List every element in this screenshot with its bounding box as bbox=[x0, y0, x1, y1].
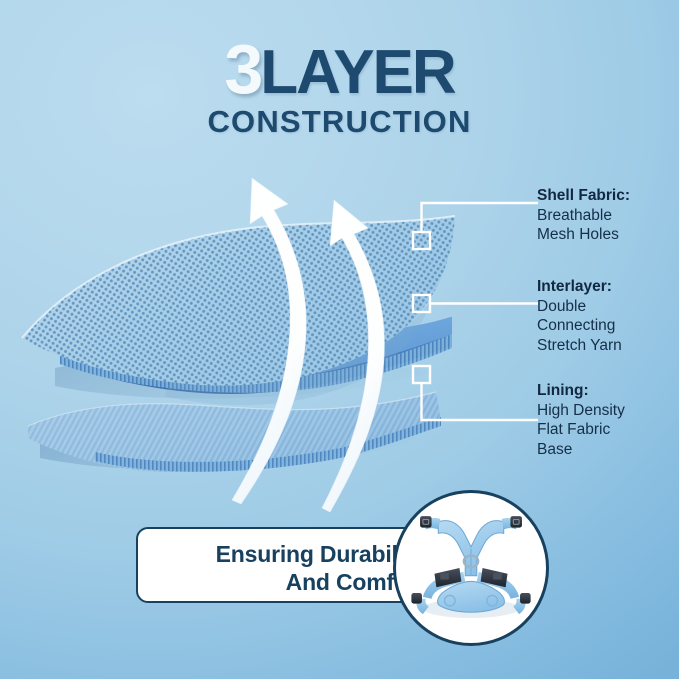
shell-fabric-line2: Mesh Holes bbox=[537, 225, 630, 245]
shell-fabric-line1: Breathable bbox=[537, 206, 630, 226]
lining-line1: High Density bbox=[537, 401, 625, 421]
title-word: LAYER bbox=[260, 38, 454, 107]
title-main-row: 3LAYER bbox=[0, 34, 679, 104]
interlayer-line3: Stretch Yarn bbox=[537, 336, 622, 356]
lining-line3: Base bbox=[537, 440, 625, 460]
shell-fabric-text: Shell Fabric: Breathable Mesh Holes bbox=[537, 186, 630, 245]
interlayer-line2: Connecting bbox=[537, 316, 622, 336]
interlayer-text: Interlayer: Double Connecting Stretch Ya… bbox=[537, 277, 622, 355]
interlayer-heading: Interlayer: bbox=[537, 277, 622, 297]
infographic-canvas: 3LAYER CONSTRUCTION bbox=[0, 0, 679, 679]
lining-connector bbox=[410, 363, 540, 427]
product-image-circle bbox=[393, 490, 549, 646]
title-number: 3 bbox=[224, 30, 260, 108]
dog-harness-illustration bbox=[396, 493, 546, 643]
tagline-line1: Ensuring Durability bbox=[138, 540, 424, 568]
interlayer-connector bbox=[410, 292, 540, 316]
tagline-text: Ensuring Durability And Comfort bbox=[138, 540, 424, 596]
shell-fabric-heading: Shell Fabric: bbox=[537, 186, 630, 206]
fabric-layers-illustration bbox=[0, 120, 470, 520]
tagline-line2: And Comfort bbox=[138, 568, 424, 596]
shell-fabric-connector bbox=[410, 196, 540, 252]
lining-heading: Lining: bbox=[537, 381, 625, 401]
lining-text: Lining: High Density Flat Fabric Base bbox=[537, 381, 625, 459]
lining-line2: Flat Fabric bbox=[537, 420, 625, 440]
interlayer-line1: Double bbox=[537, 297, 622, 317]
